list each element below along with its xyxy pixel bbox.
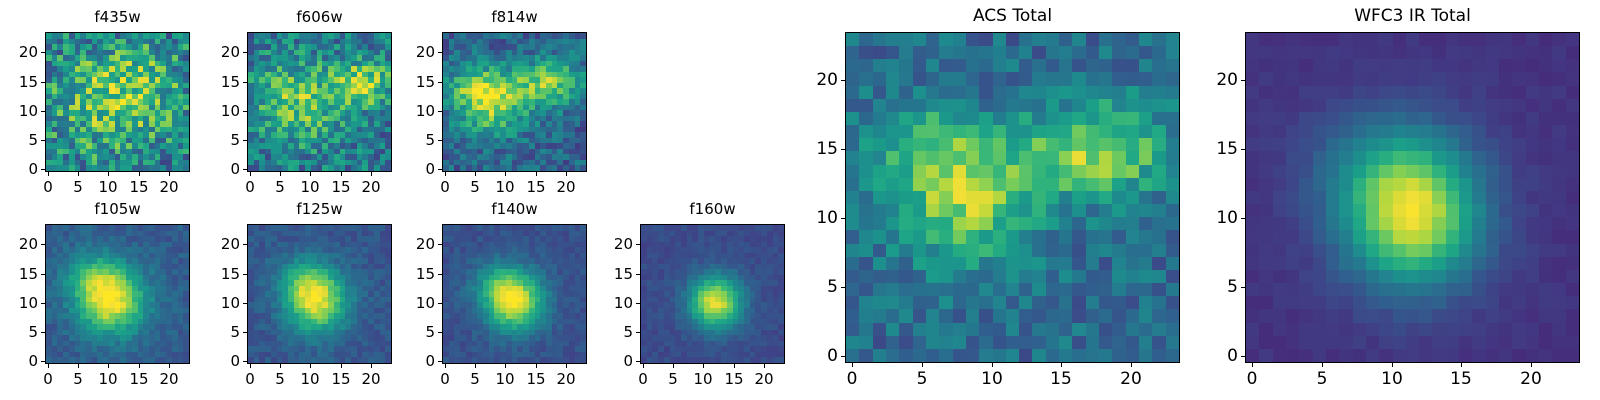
y-tick-mark bbox=[841, 149, 845, 150]
y-tick-label: 15 bbox=[185, 265, 240, 283]
y-tick-label: 15 bbox=[0, 73, 38, 91]
y-tick-mark bbox=[41, 140, 45, 141]
x-tick-label: 15 bbox=[1050, 369, 1072, 389]
x-tick-mark bbox=[536, 364, 537, 368]
x-tick-mark bbox=[78, 172, 79, 176]
y-tick-mark bbox=[41, 52, 45, 53]
x-tick-mark bbox=[1061, 363, 1062, 367]
y-tick-label: 20 bbox=[380, 235, 435, 253]
x-tick-mark bbox=[280, 172, 281, 176]
x-tick-label: 10 bbox=[98, 178, 117, 196]
y-tick-mark bbox=[41, 82, 45, 83]
x-tick-label: 5 bbox=[470, 370, 480, 388]
y-tick-label: 0 bbox=[380, 160, 435, 178]
heatmap-plot-area bbox=[442, 32, 587, 172]
y-tick-mark bbox=[243, 361, 247, 362]
x-tick-label: 0 bbox=[43, 178, 53, 196]
x-tick-label: 10 bbox=[300, 178, 319, 196]
y-tick-label: 15 bbox=[0, 265, 38, 283]
x-tick-label: 5 bbox=[275, 178, 285, 196]
x-tick-mark bbox=[475, 172, 476, 176]
y-tick-label: 20 bbox=[0, 43, 38, 61]
y-tick-mark bbox=[636, 303, 640, 304]
heatmap-plot-area bbox=[247, 32, 392, 172]
x-tick-mark bbox=[1252, 363, 1253, 367]
x-tick-mark bbox=[169, 172, 170, 176]
x-tick-label: 0 bbox=[245, 178, 255, 196]
y-tick-mark bbox=[41, 274, 45, 275]
y-tick-mark bbox=[1241, 218, 1245, 219]
x-tick-label: 15 bbox=[526, 178, 545, 196]
x-tick-mark bbox=[310, 364, 311, 368]
y-tick-mark bbox=[243, 169, 247, 170]
x-tick-label: 10 bbox=[1381, 369, 1403, 389]
x-tick-label: 15 bbox=[724, 370, 743, 388]
y-tick-mark bbox=[438, 244, 442, 245]
panel-title: f435w bbox=[45, 8, 190, 26]
x-tick-mark bbox=[1322, 363, 1323, 367]
y-tick-label: 0 bbox=[783, 346, 838, 366]
y-tick-mark bbox=[1241, 287, 1245, 288]
x-tick-label: 5 bbox=[73, 370, 83, 388]
y-tick-label: 5 bbox=[380, 323, 435, 341]
y-tick-mark bbox=[41, 332, 45, 333]
x-tick-mark bbox=[48, 172, 49, 176]
y-tick-mark bbox=[438, 361, 442, 362]
y-tick-label: 5 bbox=[1183, 277, 1238, 297]
x-tick-mark bbox=[250, 364, 251, 368]
y-tick-label: 10 bbox=[0, 294, 38, 312]
x-tick-label: 5 bbox=[470, 178, 480, 196]
y-tick-mark bbox=[243, 111, 247, 112]
y-tick-mark bbox=[41, 111, 45, 112]
x-tick-mark bbox=[1392, 363, 1393, 367]
x-tick-mark bbox=[1531, 363, 1532, 367]
x-tick-mark bbox=[341, 364, 342, 368]
x-tick-mark bbox=[643, 364, 644, 368]
x-tick-label: 10 bbox=[98, 370, 117, 388]
x-tick-label: 20 bbox=[361, 178, 380, 196]
x-tick-mark bbox=[673, 364, 674, 368]
heatmap-plot-area bbox=[442, 224, 587, 364]
x-tick-mark bbox=[139, 364, 140, 368]
y-tick-label: 0 bbox=[380, 352, 435, 370]
y-tick-mark bbox=[41, 244, 45, 245]
x-tick-label: 0 bbox=[43, 370, 53, 388]
panel-title: f814w bbox=[442, 8, 587, 26]
y-tick-mark bbox=[841, 287, 845, 288]
y-tick-mark bbox=[438, 82, 442, 83]
x-tick-label: 20 bbox=[159, 178, 178, 196]
y-tick-label: 10 bbox=[783, 208, 838, 228]
x-tick-mark bbox=[703, 364, 704, 368]
y-tick-mark bbox=[841, 80, 845, 81]
x-tick-label: 20 bbox=[1120, 369, 1142, 389]
x-tick-mark bbox=[250, 172, 251, 176]
x-tick-mark bbox=[475, 364, 476, 368]
y-tick-label: 5 bbox=[185, 323, 240, 341]
x-tick-label: 10 bbox=[981, 369, 1003, 389]
x-tick-label: 5 bbox=[73, 178, 83, 196]
x-tick-label: 0 bbox=[245, 370, 255, 388]
heatmap-plot-area bbox=[45, 32, 190, 172]
y-tick-mark bbox=[1241, 356, 1245, 357]
y-tick-label: 15 bbox=[783, 139, 838, 159]
x-tick-label: 20 bbox=[1520, 369, 1542, 389]
y-tick-label: 0 bbox=[1183, 346, 1238, 366]
y-tick-mark bbox=[243, 303, 247, 304]
y-tick-mark bbox=[243, 332, 247, 333]
y-tick-label: 5 bbox=[783, 277, 838, 297]
y-tick-label: 20 bbox=[783, 70, 838, 90]
x-tick-label: 0 bbox=[638, 370, 648, 388]
x-tick-mark bbox=[505, 172, 506, 176]
heatmap-plot-area bbox=[1245, 32, 1580, 363]
x-tick-label: 15 bbox=[129, 370, 148, 388]
y-tick-label: 0 bbox=[185, 352, 240, 370]
x-tick-mark bbox=[169, 364, 170, 368]
y-tick-mark bbox=[841, 218, 845, 219]
x-tick-mark bbox=[852, 363, 853, 367]
x-tick-mark bbox=[48, 364, 49, 368]
y-tick-label: 5 bbox=[185, 131, 240, 149]
y-tick-label: 0 bbox=[0, 352, 38, 370]
x-tick-label: 10 bbox=[495, 178, 514, 196]
y-tick-label: 10 bbox=[1183, 208, 1238, 228]
x-tick-label: 15 bbox=[331, 178, 350, 196]
y-tick-mark bbox=[636, 244, 640, 245]
x-tick-label: 20 bbox=[754, 370, 773, 388]
x-tick-mark bbox=[108, 172, 109, 176]
y-tick-label: 10 bbox=[578, 294, 633, 312]
x-tick-label: 20 bbox=[556, 370, 575, 388]
y-tick-label: 5 bbox=[380, 131, 435, 149]
y-tick-mark bbox=[438, 52, 442, 53]
x-tick-label: 0 bbox=[847, 369, 858, 389]
x-tick-mark bbox=[992, 363, 993, 367]
x-tick-mark bbox=[445, 364, 446, 368]
panel-title: f140w bbox=[442, 200, 587, 218]
x-tick-label: 0 bbox=[440, 370, 450, 388]
y-tick-label: 5 bbox=[0, 131, 38, 149]
y-tick-label: 5 bbox=[578, 323, 633, 341]
x-tick-mark bbox=[310, 172, 311, 176]
y-tick-label: 15 bbox=[185, 73, 240, 91]
y-tick-mark bbox=[243, 82, 247, 83]
heatmap-cells bbox=[46, 33, 189, 171]
y-tick-label: 0 bbox=[0, 160, 38, 178]
y-tick-label: 10 bbox=[380, 102, 435, 120]
x-tick-mark bbox=[505, 364, 506, 368]
y-tick-label: 5 bbox=[0, 323, 38, 341]
x-tick-mark bbox=[566, 364, 567, 368]
x-tick-mark bbox=[280, 364, 281, 368]
heatmap-plot-area bbox=[247, 224, 392, 364]
y-tick-mark bbox=[438, 332, 442, 333]
heatmap-plot-area bbox=[640, 224, 785, 364]
y-tick-mark bbox=[1241, 80, 1245, 81]
x-tick-mark bbox=[1461, 363, 1462, 367]
x-tick-mark bbox=[536, 172, 537, 176]
x-tick-label: 0 bbox=[1247, 369, 1258, 389]
y-tick-mark bbox=[841, 356, 845, 357]
x-tick-mark bbox=[371, 364, 372, 368]
x-tick-label: 5 bbox=[917, 369, 928, 389]
y-tick-mark bbox=[636, 361, 640, 362]
y-tick-label: 0 bbox=[578, 352, 633, 370]
y-tick-label: 10 bbox=[185, 102, 240, 120]
y-tick-mark bbox=[438, 274, 442, 275]
x-tick-label: 5 bbox=[1317, 369, 1328, 389]
heatmap-cells bbox=[443, 33, 586, 171]
y-tick-label: 20 bbox=[185, 43, 240, 61]
y-tick-mark bbox=[41, 169, 45, 170]
x-tick-mark bbox=[139, 172, 140, 176]
x-tick-label: 20 bbox=[361, 370, 380, 388]
x-tick-mark bbox=[734, 364, 735, 368]
y-tick-mark bbox=[41, 303, 45, 304]
x-tick-mark bbox=[922, 363, 923, 367]
heatmap-cells bbox=[641, 225, 784, 363]
x-tick-label: 0 bbox=[440, 178, 450, 196]
y-tick-mark bbox=[636, 274, 640, 275]
heatmap-plot-area bbox=[845, 32, 1180, 363]
x-tick-mark bbox=[445, 172, 446, 176]
heatmap-cells bbox=[46, 225, 189, 363]
y-tick-mark bbox=[243, 274, 247, 275]
y-tick-label: 20 bbox=[380, 43, 435, 61]
heatmap-plot-area bbox=[45, 224, 190, 364]
panel-title: f125w bbox=[247, 200, 392, 218]
y-tick-mark bbox=[438, 140, 442, 141]
y-tick-mark bbox=[243, 244, 247, 245]
x-tick-mark bbox=[1131, 363, 1132, 367]
x-tick-label: 15 bbox=[129, 178, 148, 196]
y-tick-label: 0 bbox=[185, 160, 240, 178]
y-tick-mark bbox=[41, 361, 45, 362]
y-tick-label: 20 bbox=[578, 235, 633, 253]
y-tick-label: 15 bbox=[578, 265, 633, 283]
y-tick-mark bbox=[1241, 149, 1245, 150]
y-tick-label: 15 bbox=[380, 73, 435, 91]
y-tick-label: 10 bbox=[0, 102, 38, 120]
x-tick-label: 5 bbox=[275, 370, 285, 388]
heatmap-cells bbox=[248, 225, 391, 363]
panel-title: f105w bbox=[45, 200, 190, 218]
x-tick-label: 10 bbox=[693, 370, 712, 388]
x-tick-mark bbox=[341, 172, 342, 176]
y-tick-mark bbox=[243, 140, 247, 141]
x-tick-label: 20 bbox=[556, 178, 575, 196]
panel-title: ACS Total bbox=[845, 6, 1180, 26]
x-tick-label: 10 bbox=[495, 370, 514, 388]
y-tick-label: 10 bbox=[380, 294, 435, 312]
y-tick-label: 20 bbox=[0, 235, 38, 253]
x-tick-label: 10 bbox=[300, 370, 319, 388]
x-tick-mark bbox=[764, 364, 765, 368]
x-tick-label: 15 bbox=[331, 370, 350, 388]
x-tick-mark bbox=[566, 172, 567, 176]
y-tick-mark bbox=[243, 52, 247, 53]
heatmap-cells bbox=[248, 33, 391, 171]
y-tick-mark bbox=[438, 169, 442, 170]
heatmap-cells bbox=[1246, 33, 1579, 362]
panel-title: WFC3 IR Total bbox=[1245, 6, 1580, 26]
x-tick-mark bbox=[108, 364, 109, 368]
panel-title: f160w bbox=[640, 200, 785, 218]
y-tick-mark bbox=[438, 303, 442, 304]
heatmap-cells bbox=[443, 225, 586, 363]
y-tick-label: 15 bbox=[380, 265, 435, 283]
x-tick-mark bbox=[78, 364, 79, 368]
y-tick-label: 10 bbox=[185, 294, 240, 312]
y-tick-label: 20 bbox=[1183, 70, 1238, 90]
x-tick-label: 15 bbox=[526, 370, 545, 388]
y-tick-label: 20 bbox=[185, 235, 240, 253]
heatmap-cells bbox=[846, 33, 1179, 362]
x-tick-label: 20 bbox=[159, 370, 178, 388]
y-tick-mark bbox=[438, 111, 442, 112]
x-tick-label: 15 bbox=[1450, 369, 1472, 389]
x-tick-mark bbox=[371, 172, 372, 176]
y-tick-label: 15 bbox=[1183, 139, 1238, 159]
x-tick-label: 5 bbox=[668, 370, 678, 388]
panel-title: f606w bbox=[247, 8, 392, 26]
y-tick-mark bbox=[636, 332, 640, 333]
